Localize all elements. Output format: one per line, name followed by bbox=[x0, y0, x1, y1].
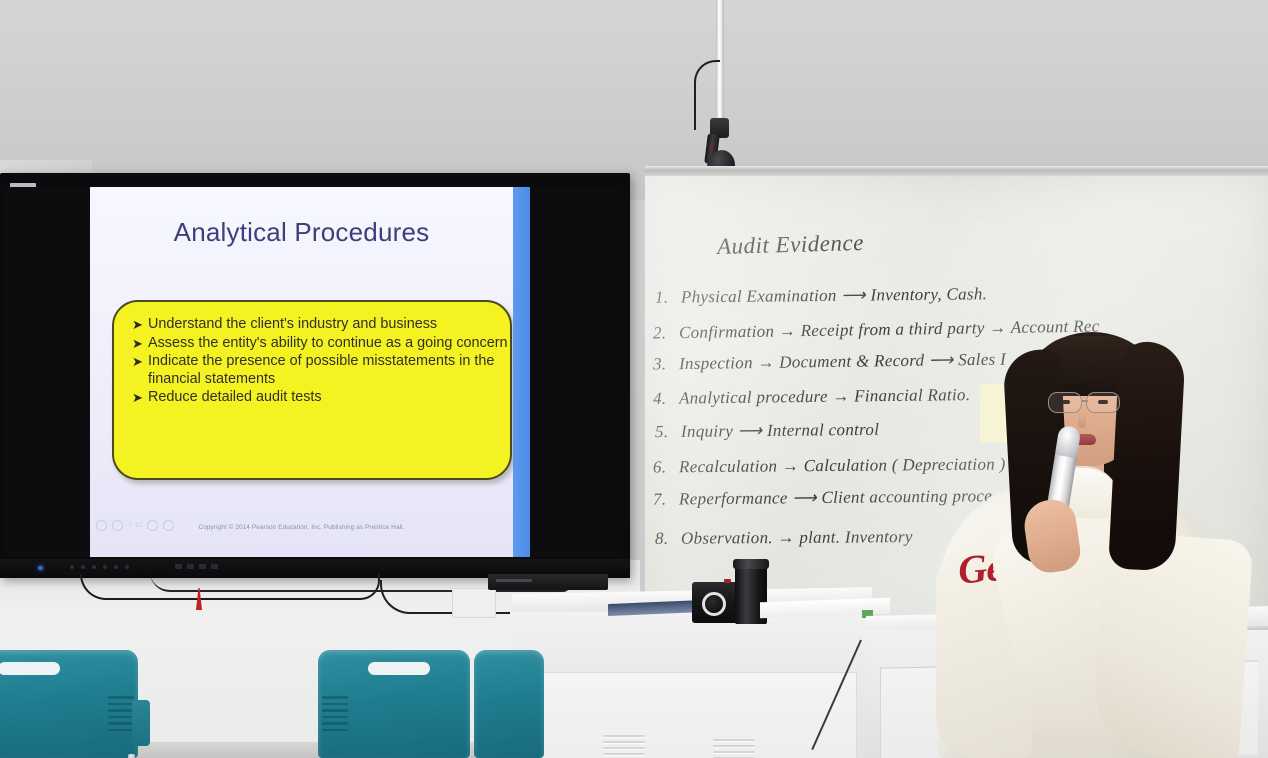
chair-1-side-tab bbox=[132, 700, 150, 746]
whiteboard-line-6-number: 6. bbox=[653, 457, 679, 477]
chair-3-backrest bbox=[474, 650, 544, 758]
display-button[interactable] bbox=[125, 565, 129, 569]
lectern-vent-right bbox=[713, 739, 755, 758]
display-button-row[interactable] bbox=[70, 565, 129, 569]
presentation-slide: Analytical Procedures ➤ Understand the c… bbox=[90, 187, 530, 557]
display-button[interactable] bbox=[92, 565, 96, 569]
slide-accent-bar bbox=[513, 187, 530, 557]
whiteboard-line-4: 4.Analytical procedure → Financial Ratio… bbox=[653, 385, 971, 409]
whiteboard-heading: Audit Evidence bbox=[717, 230, 865, 260]
whiteboard-line-8: 8.Observation. → plant. Inventory bbox=[655, 527, 913, 549]
slide-bullet-list: ➤ Understand the client's industry and b… bbox=[132, 316, 508, 408]
camera-shutter-button[interactable] bbox=[724, 579, 731, 583]
chair-1-leg bbox=[128, 754, 135, 758]
microphone-grille-icon bbox=[1055, 425, 1081, 458]
slide-callout-box: ➤ Understand the client's industry and b… bbox=[112, 300, 512, 480]
glasses-bridge bbox=[1082, 400, 1088, 402]
whiteboard-line-1-text: Physical Examination ⟶ Inventory, Cash. bbox=[681, 284, 987, 306]
whiteboard-line-3-number: 3. bbox=[653, 354, 679, 374]
bullet-arrow-icon: ➤ bbox=[132, 335, 148, 353]
display-button[interactable] bbox=[114, 565, 118, 569]
camera-lens-icon bbox=[702, 592, 726, 616]
whiteboard-top-rail bbox=[645, 166, 1268, 176]
flat-panel-display[interactable]: Analytical Procedures ➤ Understand the c… bbox=[0, 173, 630, 578]
slide-title: Analytical Procedures bbox=[90, 217, 513, 248]
slide-bullet-2-text: Assess the entity's ability to continue … bbox=[148, 335, 508, 353]
classroom-scene: Audit Evidence 1.Physical Examination ⟶ … bbox=[0, 0, 1268, 758]
whiteboard-line-4-number: 4. bbox=[653, 389, 679, 409]
whiteboard-line-8-text: Observation. → plant. Inventory bbox=[681, 527, 913, 548]
display-port[interactable] bbox=[175, 564, 182, 569]
chair-1-ribs bbox=[108, 696, 134, 746]
whiteboard-line-1-number: 1. bbox=[655, 287, 681, 307]
whiteboard-line-5: 5.Inquiry ⟶ Internal control bbox=[655, 420, 879, 442]
whiteboard-line-5-number: 5. bbox=[655, 422, 681, 442]
whiteboard-line-5-text: Inquiry ⟶ Internal control bbox=[681, 420, 879, 441]
microphone-indicator-dot bbox=[710, 143, 713, 150]
wall-outlet bbox=[452, 588, 496, 618]
bullet-arrow-icon: ➤ bbox=[132, 353, 148, 371]
presenter-nose bbox=[1078, 412, 1086, 428]
cable-connector-strip bbox=[488, 574, 608, 590]
display-port[interactable] bbox=[199, 564, 206, 569]
whiteboard-line-1: 1.Physical Examination ⟶ Inventory, Cash… bbox=[655, 284, 987, 307]
lectern-vent-left bbox=[603, 735, 645, 757]
chair-2-backrest bbox=[318, 650, 470, 758]
whiteboard-line-7-number: 7. bbox=[653, 490, 679, 510]
display-port[interactable] bbox=[187, 564, 194, 569]
display-button[interactable] bbox=[70, 565, 74, 569]
compact-camera bbox=[692, 582, 738, 623]
slide-bullet-4: ➤ Reduce detailed audit tests bbox=[132, 389, 508, 407]
slide-bullet-1: ➤ Understand the client's industry and b… bbox=[132, 316, 508, 334]
chair-2-ribs bbox=[322, 696, 348, 746]
tumbler-lid bbox=[733, 559, 769, 569]
display-port[interactable] bbox=[211, 564, 218, 569]
slide-bullet-3: ➤ Indicate the presence of possible miss… bbox=[132, 353, 508, 388]
display-button[interactable] bbox=[81, 565, 85, 569]
power-led-indicator bbox=[38, 566, 43, 570]
display-port-row[interactable] bbox=[175, 564, 218, 569]
slide-bullet-2: ➤ Assess the entity's ability to continu… bbox=[132, 335, 508, 353]
slide-bullet-4-text: Reduce detailed audit tests bbox=[148, 389, 508, 407]
chair-2-handle-slot bbox=[368, 662, 430, 675]
lectern-left-panel bbox=[522, 672, 857, 758]
whiteboard-line-2-number: 2. bbox=[653, 323, 679, 343]
presenter-hair-right bbox=[1108, 340, 1186, 571]
display-button[interactable] bbox=[103, 565, 107, 569]
slide-bullet-1-text: Understand the client's industry and bus… bbox=[148, 316, 508, 334]
display-screen: Analytical Procedures ➤ Understand the c… bbox=[5, 187, 623, 557]
glasses-right-lens-icon bbox=[1086, 392, 1120, 413]
bullet-arrow-icon: ➤ bbox=[132, 316, 148, 334]
bullet-arrow-icon: ➤ bbox=[132, 389, 148, 407]
slide-copyright-footer: Copyright © 2014 Pearson Education, Inc.… bbox=[90, 524, 513, 531]
chair-1-backrest bbox=[0, 650, 138, 758]
presenter: Genui bbox=[930, 330, 1268, 758]
whiteboard-line-4-text: Analytical procedure → Financial Ratio. bbox=[679, 385, 971, 408]
chair-1-handle-slot bbox=[0, 662, 60, 675]
whiteboard-line-8-number: 8. bbox=[655, 529, 681, 549]
slide-bullet-3-text: Indicate the presence of possible missta… bbox=[148, 353, 508, 388]
glasses-left-lens-icon bbox=[1048, 392, 1082, 413]
